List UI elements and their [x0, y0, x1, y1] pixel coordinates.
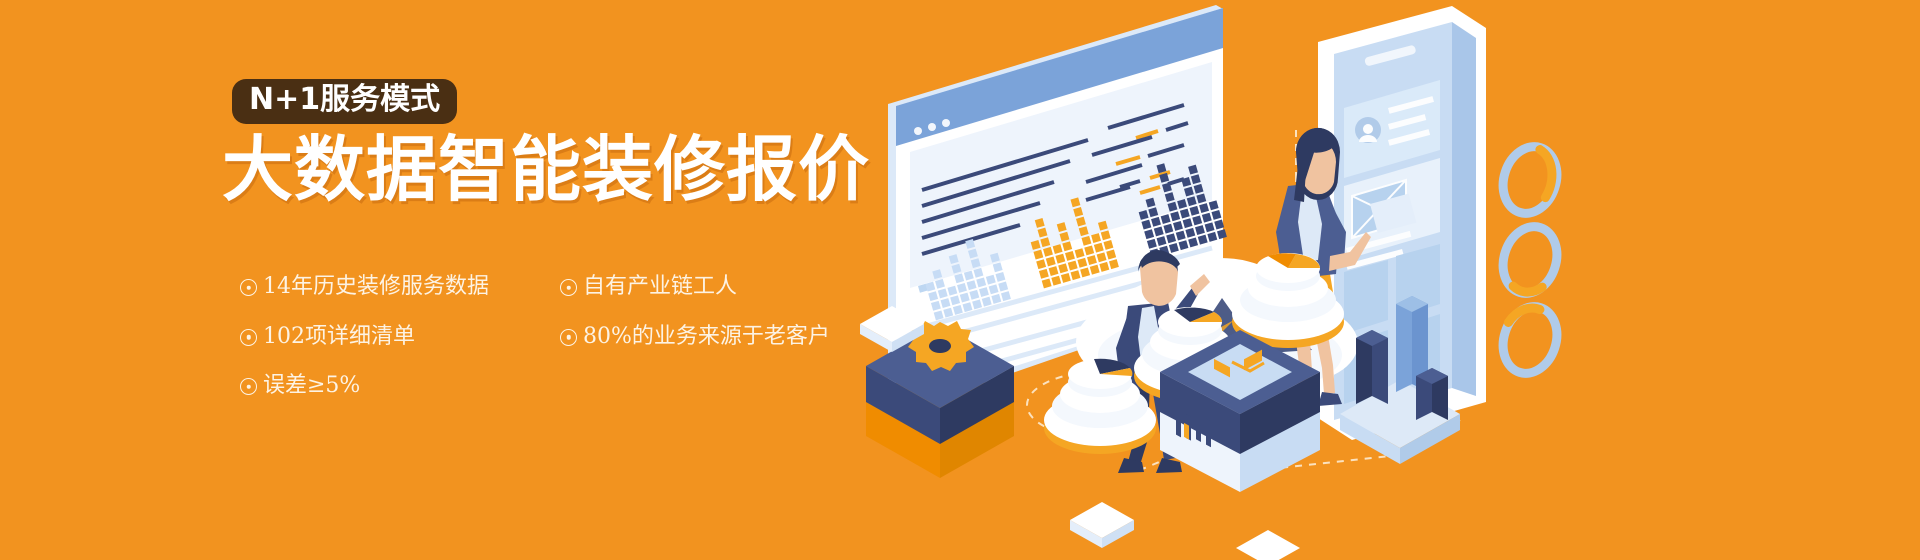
badge-label: N+1服务模式 [249, 84, 440, 116]
list-item-label: 自有产业链工人 [583, 273, 737, 301]
list-item-label: 14年历史装修服务数据 [263, 273, 489, 301]
floating-tile [1236, 530, 1300, 560]
list-item: 14年历史装修服务数据 [240, 273, 489, 301]
circled-dot-icon [240, 329, 257, 346]
circled-dot-icon [560, 279, 577, 296]
feature-list: 14年历史装修服务数据 自有产业链工人 102项详细清单 [240, 273, 880, 422]
feature-col-left: 14年历史装修服务数据 [240, 273, 560, 301]
list-item: 误差≥5% [240, 372, 360, 400]
list-item: 自有产业链工人 [560, 273, 737, 301]
service-mode-badge: N+1服务模式 [232, 79, 457, 124]
feature-col-right: 80%的业务来源于老客户 [560, 323, 880, 351]
circled-dot-icon [560, 329, 577, 346]
hero-illustration [840, 0, 1920, 560]
circled-dot-icon [240, 279, 257, 296]
page-title: 大数据智能装修报价 [222, 133, 870, 208]
list-item-label: 误差≥5% [263, 372, 360, 400]
feature-row: 102项详细清单 80%的业务来源于老客户 [240, 323, 880, 351]
feature-col-right: 自有产业链工人 [560, 273, 880, 301]
progress-ring-1 [1495, 140, 1565, 221]
list-item-label: 102项详细清单 [263, 323, 415, 351]
progress-ring-2 [1495, 220, 1565, 301]
progress-ring-3 [1495, 300, 1565, 381]
feature-col-left: 102项详细清单 [240, 323, 560, 351]
feature-col-left: 误差≥5% [240, 372, 560, 400]
list-item-label: 80%的业务来源于老客户 [583, 323, 830, 351]
promo-banner: N+1服务模式 大数据智能装修报价 14年历史装修服务数据 自有产业链工人 [0, 0, 1920, 560]
floating-tile [1070, 502, 1134, 548]
feature-row: 14年历史装修服务数据 自有产业链工人 [240, 273, 880, 301]
circled-dot-icon [240, 378, 257, 395]
list-item: 80%的业务来源于老客户 [560, 323, 830, 351]
list-item: 102项详细清单 [240, 323, 415, 351]
feature-row: 误差≥5% [240, 372, 880, 400]
